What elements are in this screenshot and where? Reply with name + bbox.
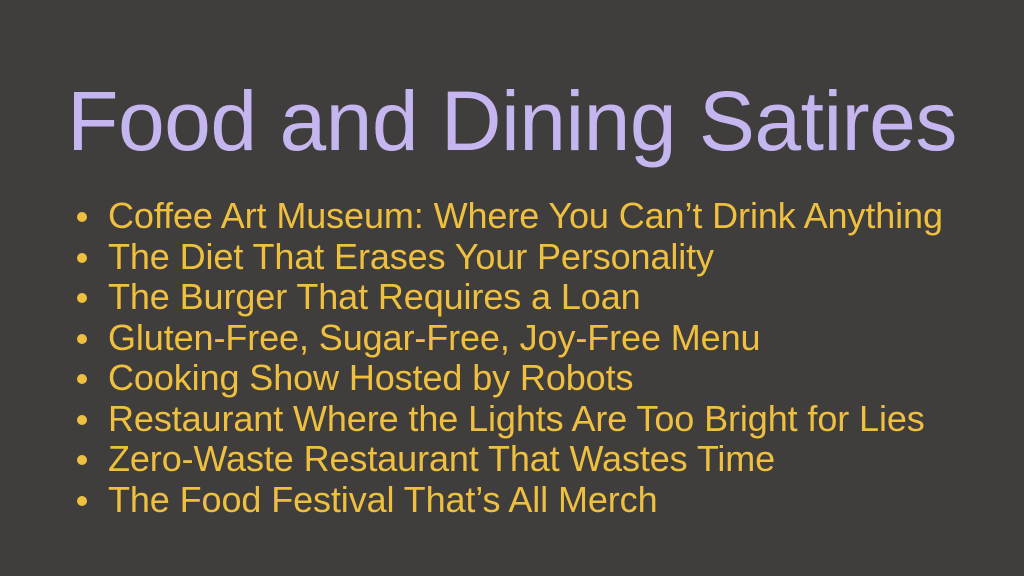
bullet-dot-icon xyxy=(77,212,87,222)
list-item-label: The Burger That Requires a Loan xyxy=(108,277,641,318)
list-item-label: The Food Festival That’s All Merch xyxy=(108,480,658,521)
list-item-label: Zero-Waste Restaurant That Wastes Time xyxy=(108,439,775,480)
list-item: Restaurant Where the Lights Are Too Brig… xyxy=(72,399,1006,440)
list-item-label: Restaurant Where the Lights Are Too Brig… xyxy=(108,399,925,440)
presentation-slide: Food and Dining Satires Coffee Art Museu… xyxy=(0,0,1024,576)
bullet-dot-icon xyxy=(77,374,87,384)
list-item: The Food Festival That’s All Merch xyxy=(72,480,1006,521)
list-item: Gluten-Free, Sugar-Free, Joy-Free Menu xyxy=(72,318,1006,359)
bullet-dot-icon xyxy=(77,293,87,303)
bullet-dot-icon xyxy=(77,415,87,425)
list-item: The Diet That Erases Your Personality xyxy=(72,237,1006,278)
bullet-dot-icon xyxy=(77,253,87,263)
bullet-list: Coffee Art Museum: Where You Can’t Drink… xyxy=(72,196,1006,520)
bullet-dot-icon xyxy=(77,334,87,344)
list-item-label: Cooking Show Hosted by Robots xyxy=(108,358,633,399)
list-item-label: The Diet That Erases Your Personality xyxy=(108,237,714,278)
list-item: Cooking Show Hosted by Robots xyxy=(72,358,1006,399)
list-item-label: Gluten-Free, Sugar-Free, Joy-Free Menu xyxy=(108,318,760,359)
list-item-label: Coffee Art Museum: Where You Can’t Drink… xyxy=(108,196,943,237)
page-title: Food and Dining Satires xyxy=(0,74,1024,168)
list-item: Coffee Art Museum: Where You Can’t Drink… xyxy=(72,196,1006,237)
list-item: The Burger That Requires a Loan xyxy=(72,277,1006,318)
list-item: Zero-Waste Restaurant That Wastes Time xyxy=(72,439,1006,480)
bullet-dot-icon xyxy=(77,455,87,465)
bullet-dot-icon xyxy=(77,496,87,506)
